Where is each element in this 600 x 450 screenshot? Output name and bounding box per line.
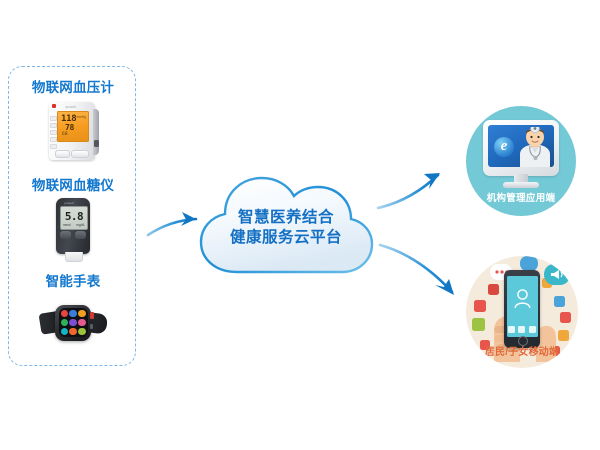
blood-pressure-monitor-icon: yuwell mmHg 118 78 68 xyxy=(45,100,101,162)
device-label-smart-watch: 智能手表 xyxy=(9,275,137,289)
bpm-pulse-value: 68 xyxy=(62,132,68,137)
cloud-platform-icon[interactable]: 智慧医养结合 健康服务云平台 xyxy=(196,172,376,280)
device-group-blood-pressure[interactable]: 物联网血压计 yuwell mmHg 118 78 68 xyxy=(9,81,137,167)
watch-app-dot xyxy=(69,328,76,335)
device-label-glucose: 物联网血糖仪 xyxy=(9,179,137,193)
arrow-devices-to-cloud xyxy=(148,212,196,235)
bpm-diastolic-value: 78 xyxy=(65,123,74,132)
smartphone-icon xyxy=(504,270,540,348)
watch-app-grid xyxy=(61,310,86,335)
glucose-unit-right: mg/dL xyxy=(76,223,85,227)
arrow-cloud-to-mobile xyxy=(380,245,454,295)
glucose-meter-icon: yuwell 5.8 mmol mg/dL xyxy=(56,198,90,260)
glucose-value: 5.8 xyxy=(61,210,87,223)
chat-bubble-icon xyxy=(520,256,538,271)
watch-app-dot xyxy=(61,328,68,335)
bpm-lcd-screen: mmHg 118 78 68 xyxy=(57,111,89,142)
device-label-blood-pressure: 物联网血压计 xyxy=(9,81,137,95)
app-tile-icon xyxy=(560,312,571,323)
watch-app-dot xyxy=(78,319,85,326)
device-group-smart-watch[interactable]: 智能手表 xyxy=(9,275,137,359)
cloud-line-2: 健康服务云平台 xyxy=(196,228,376,248)
caption-resident-mobile: 居民/子女移动端 xyxy=(466,343,578,358)
desktop-doctor-icon: e xyxy=(483,120,559,184)
glucose-lcd-screen: 5.8 mmol mg/dL xyxy=(60,206,88,230)
smart-watch-icon xyxy=(40,294,106,354)
user-avatar-icon xyxy=(514,289,531,309)
watch-app-dot xyxy=(61,319,68,326)
cloud-caption: 智慧医养结合 健康服务云平台 xyxy=(196,208,376,248)
cloud-line-1: 智慧医养结合 xyxy=(196,208,376,228)
app-tile-icon xyxy=(488,284,499,295)
device-group-glucose[interactable]: 物联网血糖仪 yuwell 5.8 mmol mg/dL xyxy=(9,179,137,265)
app-tile-icon xyxy=(472,318,485,331)
doctor-avatar-icon xyxy=(516,127,552,167)
diagram-canvas: 物联网血压计 yuwell mmHg 118 78 68 xyxy=(0,0,600,450)
app-tile-icon xyxy=(558,330,569,341)
ie-browser-icon: e xyxy=(494,137,514,157)
watch-app-dot xyxy=(69,319,76,326)
megaphone-icon xyxy=(550,269,565,280)
device-panel: 物联网血压计 yuwell mmHg 118 78 68 xyxy=(8,66,136,366)
watch-app-dot xyxy=(69,310,76,317)
phone-mail-icon xyxy=(518,326,525,333)
node-resident-mobile[interactable]: 居民/子女移动端 xyxy=(466,256,578,368)
arrow-cloud-to-institution xyxy=(378,173,440,208)
phone-action-bar xyxy=(507,324,538,334)
glucose-unit-left: mmol xyxy=(63,223,71,227)
phone-screen xyxy=(507,276,538,337)
node-institution-management[interactable]: e xyxy=(466,106,576,216)
app-tile-icon xyxy=(474,300,486,312)
caption-institution-management: 机构管理应用端 xyxy=(466,190,576,204)
watch-app-dot xyxy=(61,310,68,317)
watch-app-dot xyxy=(78,310,85,317)
watch-app-dot xyxy=(78,328,85,335)
phone-globe-icon xyxy=(529,326,536,333)
phone-call-icon xyxy=(508,326,515,333)
monitor-screen: e xyxy=(488,125,554,167)
